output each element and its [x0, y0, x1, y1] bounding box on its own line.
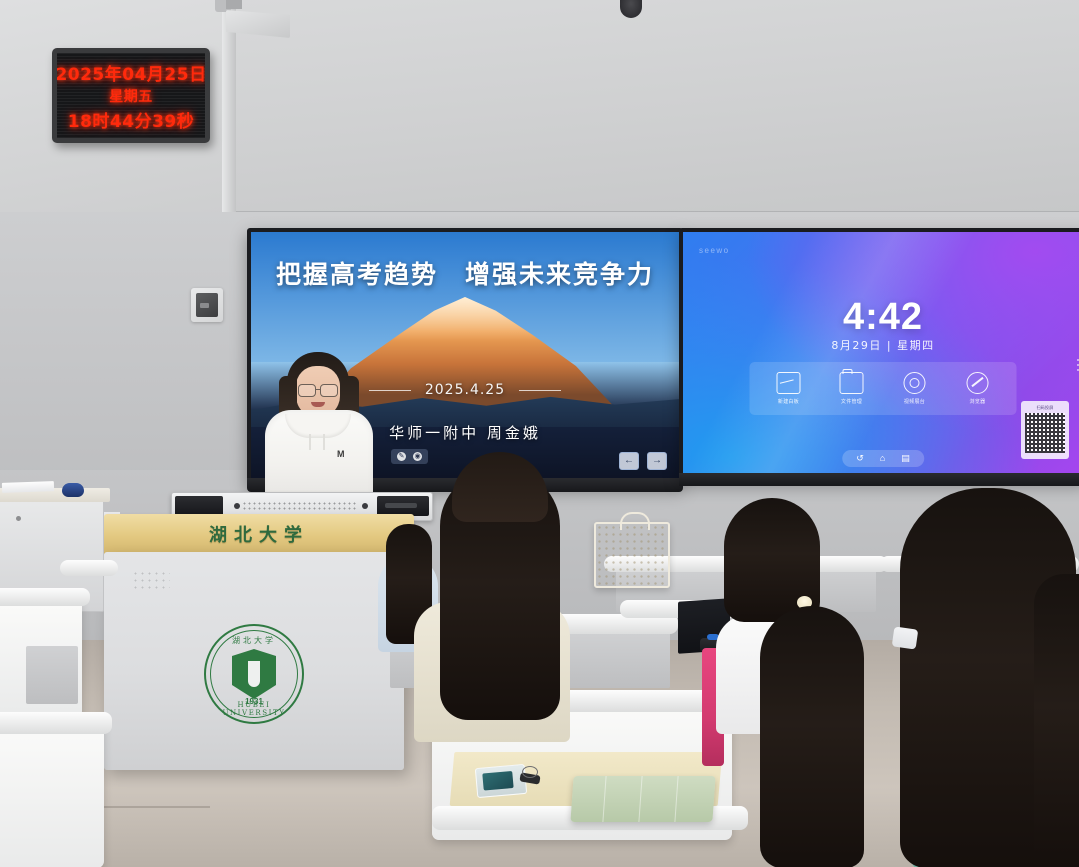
- console-speaker-grill: [242, 501, 357, 511]
- app-label: 文件管理: [841, 398, 862, 405]
- seewo-date: 8月29日 | 星期四: [683, 337, 1079, 353]
- wall-sensor-panel[interactable]: [191, 288, 223, 322]
- slide-nav-group[interactable]: ← →: [619, 452, 667, 470]
- desk-rail: [0, 712, 112, 734]
- led-clock: 2025年04月25日 星期五 18时44分39秒: [52, 48, 210, 143]
- seewo-clock: 4:42: [683, 296, 1079, 339]
- logo-shield-icon: [232, 649, 276, 699]
- console-screen-right: [377, 496, 429, 516]
- seewo-navbar[interactable]: ↺ ⌂ ▤: [842, 450, 924, 467]
- back-icon[interactable]: ↺: [856, 454, 864, 463]
- right-display[interactable]: seewo 4:42 8月29日 | 星期四 新建白板 文件管理 视频展台 浏览…: [679, 228, 1079, 481]
- led-clock-date: 2025年04月25日: [55, 60, 206, 85]
- logo-top-text: 湖北大学: [206, 635, 302, 646]
- ceiling-vent: [226, 0, 242, 9]
- seewo-watermark: seewo: [699, 246, 730, 255]
- seewo-app-whiteboard[interactable]: 新建白板: [764, 372, 814, 405]
- slide-next-button[interactable]: →: [647, 452, 667, 470]
- console-knob[interactable]: [234, 503, 240, 509]
- podium-brand-text: 湖北大学: [104, 521, 414, 547]
- pen-icon[interactable]: ✎: [397, 452, 406, 461]
- seewo-qr-card[interactable]: 扫码投屏: [1021, 401, 1069, 459]
- student-c-ponytail: [760, 606, 864, 867]
- seewo-app-visualizer[interactable]: 视频展台: [890, 372, 940, 405]
- recents-icon[interactable]: ▤: [901, 454, 910, 463]
- desk-rail: [0, 588, 90, 606]
- keys: [520, 770, 546, 786]
- glasses-icon: [297, 384, 339, 395]
- seewo-app-dock[interactable]: 新建白板 文件管理 视频展台 浏览器: [750, 362, 1017, 415]
- wall-column: [222, 0, 236, 232]
- desk-rail: [60, 560, 118, 576]
- app-label: 新建白板: [778, 398, 799, 405]
- tablet-case: [570, 776, 715, 822]
- console-knob[interactable]: [362, 503, 368, 509]
- hoodie-drawstring: [309, 434, 311, 450]
- seewo-app-browser[interactable]: 浏览器: [953, 372, 1003, 405]
- cabinet-knob[interactable]: [16, 516, 21, 521]
- slide-tool-group[interactable]: ✎ ◉: [391, 449, 428, 464]
- hubei-university-logo: 湖北大学 1931 HUBEI UNIVERSITY: [204, 624, 304, 724]
- seewo-app-files[interactable]: 文件管理: [827, 372, 877, 405]
- hoodie-logo: M: [337, 450, 346, 459]
- pointer-icon[interactable]: ◉: [413, 452, 422, 461]
- slide-title: 把握高考趋势 增强未来竞争力: [251, 255, 679, 291]
- hoodie-drawstring: [323, 434, 325, 450]
- podium-body: 湖北大学 1931 HUBEI UNIVERSITY: [104, 552, 404, 770]
- seewo-wallpaper-sheen: [679, 228, 1051, 481]
- paper-stack: [2, 481, 54, 493]
- desk-left-panel: [26, 646, 78, 704]
- student-e-hair: [1034, 574, 1079, 867]
- app-label: 浏览器: [970, 398, 986, 405]
- handbag: [594, 522, 670, 588]
- braille-plate: [132, 570, 170, 592]
- qr-caption: 扫码投屏: [1037, 405, 1054, 411]
- qr-code-icon: [1025, 413, 1065, 453]
- folder-icon: [840, 372, 864, 394]
- desk-left-front: [0, 720, 104, 867]
- home-icon[interactable]: ⌂: [880, 454, 885, 463]
- led-clock-time: 18时44分39秒: [68, 107, 194, 132]
- logo-arc-text: HUBEI UNIVERSITY: [206, 701, 302, 717]
- presenter: M: [265, 352, 373, 502]
- console-screen-left: [175, 496, 223, 516]
- whiteboard-icon: [777, 372, 801, 394]
- classroom-photo: 2025年04月25日 星期五 18时44分39秒 把握高考趋势 增强未来竞争力…: [0, 0, 1079, 867]
- slide-prev-button[interactable]: ←: [619, 452, 639, 470]
- podium-wood-band: 湖北大学: [104, 514, 414, 554]
- led-clock-weekday: 星期五: [109, 86, 153, 106]
- globe-icon: [967, 372, 989, 394]
- right-display-bezel: [679, 473, 1079, 486]
- computer-mouse[interactable]: [62, 483, 84, 497]
- face-mask: [892, 626, 919, 649]
- camera-icon: [904, 372, 926, 394]
- app-label: 视频展台: [904, 398, 925, 405]
